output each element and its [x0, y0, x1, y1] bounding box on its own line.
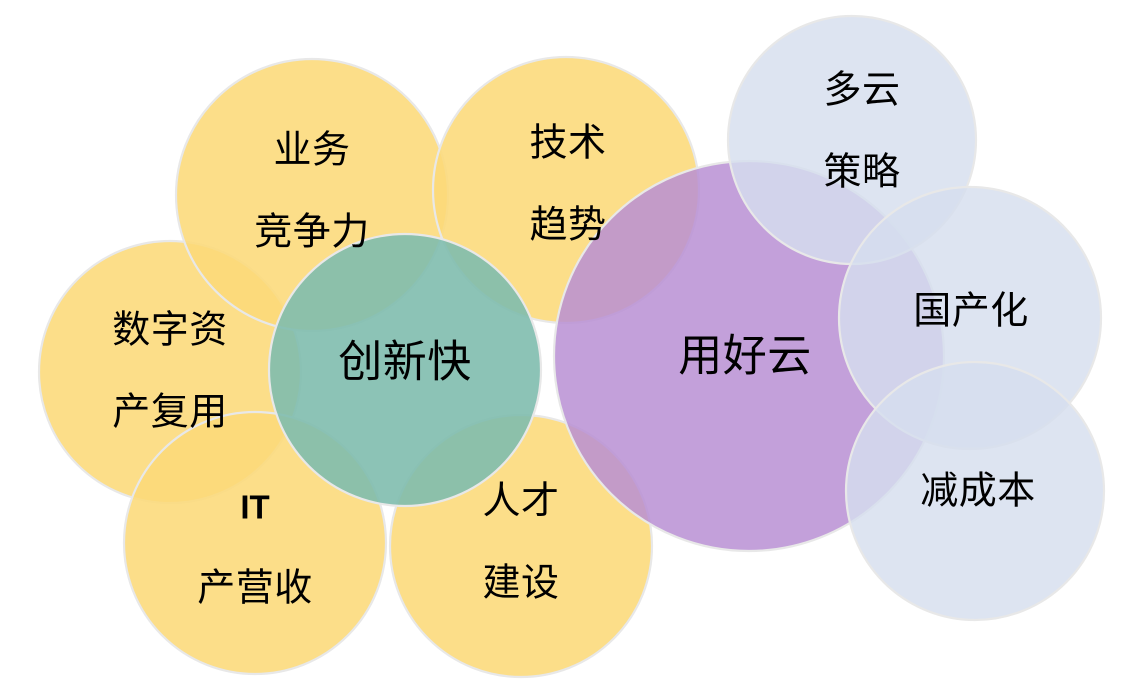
venn-circle-cost-reduction[interactable] [846, 362, 1104, 620]
venn-diagram-canvas: 数字资 产复用 业务 竞争力 技术 趋势 IT 产营收 人才 建设 创新快 用好… [0, 0, 1129, 687]
venn-circle-fast-innovation[interactable] [269, 234, 541, 506]
venn-circles-layer [0, 0, 1129, 687]
